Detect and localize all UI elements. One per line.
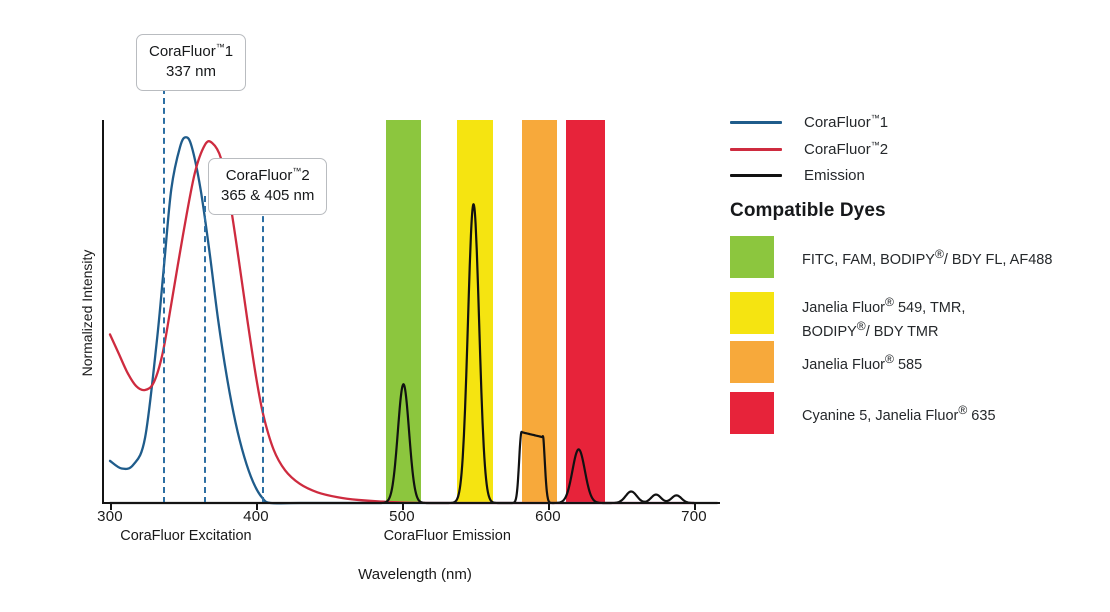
legend-item-1: CoraFluor™1 (730, 113, 888, 131)
dye-row-4: Cyanine 5, Janelia Fluor® 635 (730, 392, 996, 434)
range-label-emission: CoraFluor Emission (384, 528, 511, 544)
excitation-marker-337nm (163, 78, 165, 503)
dye-label: FITC, FAM, BODIPY®/ BDY FL, AF488 (802, 236, 1052, 270)
x-axis (102, 502, 720, 504)
y-axis (102, 120, 104, 504)
annotation-corafluor2-value: 365 & 405 nm (221, 186, 314, 206)
dye-color-swatch (730, 392, 774, 434)
legend-item-label: Emission (804, 167, 865, 184)
range-label-excitation: CoraFluor Excitation (120, 528, 251, 544)
x-tick-label-600: 600 (535, 508, 561, 525)
chart-figure: 300400500600700 CoraFluor ExcitationCora… (0, 0, 1110, 612)
x-tick-label-500: 500 (389, 508, 415, 525)
dye-row-2: Janelia Fluor® 549, TMR,BODIPY®/ BDY TMR (730, 292, 965, 343)
annotation-corafluor1: CoraFluor™1 337 nm (136, 34, 246, 91)
dye-color-swatch (730, 341, 774, 383)
curve-corafluor2 (110, 141, 694, 503)
excitation-marker-405nm (262, 196, 264, 503)
right-panel: CoraFluor™1CoraFluor™2Emission Compatibl… (728, 0, 1110, 612)
y-axis-title: Normalized Intensity (79, 218, 95, 408)
legend-item-2: CoraFluor™2 (730, 140, 888, 158)
legend-line-swatch (730, 174, 782, 177)
plot-area: 300400500600700 CoraFluor ExcitationCora… (0, 0, 730, 612)
dye-color-swatch (730, 236, 774, 278)
legend-item-label: CoraFluor™1 (804, 113, 888, 131)
annotation-corafluor1-value: 337 nm (149, 62, 233, 82)
legend-item-3: Emission (730, 167, 865, 184)
curve-corafluor1 (110, 137, 694, 503)
dye-label: Janelia Fluor® 585 (802, 341, 922, 375)
dye-label: Janelia Fluor® 549, TMR,BODIPY®/ BDY TMR (802, 292, 965, 343)
annotation-corafluor2: CoraFluor™2 365 & 405 nm (208, 158, 327, 215)
dye-row-1: FITC, FAM, BODIPY®/ BDY FL, AF488 (730, 236, 1052, 278)
annotation-corafluor2-label: CoraFluor™2 (221, 166, 314, 186)
x-axis-title: Wavelength (nm) (290, 566, 540, 583)
legend-line-swatch (730, 148, 782, 151)
x-tick-label-300: 300 (97, 508, 123, 525)
dye-label: Cyanine 5, Janelia Fluor® 635 (802, 392, 996, 426)
legend-line-swatch (730, 121, 782, 124)
curve-emission (110, 204, 717, 503)
compatible-dyes-title: Compatible Dyes (730, 200, 886, 222)
legend-item-label: CoraFluor™2 (804, 140, 888, 158)
x-tick-label-400: 400 (243, 508, 269, 525)
dye-row-3: Janelia Fluor® 585 (730, 341, 922, 383)
dye-color-swatch (730, 292, 774, 334)
annotation-corafluor1-label: CoraFluor™1 (149, 42, 233, 62)
x-tick-label-700: 700 (681, 508, 707, 525)
excitation-marker-365nm (204, 196, 206, 503)
